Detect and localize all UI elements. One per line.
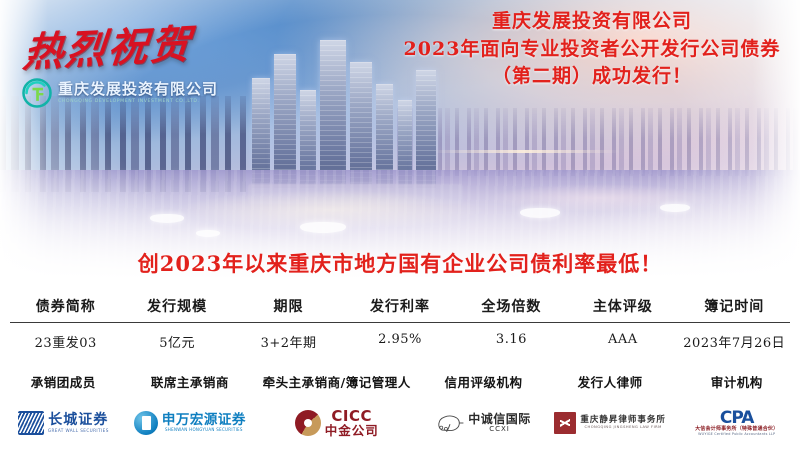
logo-cicc: CICC 中金公司 (253, 398, 420, 448)
bond-issuance-poster: 热烈祝贺 重庆发展投资有限公司 CHONGQING DEVELOPMENT IN… (0, 0, 800, 450)
logo-ccxi: 中诚信国际 CCXI (420, 398, 547, 448)
sub-headline: 创2023年以来重庆市地方国有企业公司债利率最低！ (0, 248, 800, 278)
logo-great-wall-securities: 长城证券 GREAT WALL SECURITIES (0, 398, 127, 448)
column-header-bond-name: 债券简称 (10, 296, 121, 322)
great-wall-securities-logo-icon (18, 411, 44, 435)
column-header-bookbuilding-date: 簿记时间 (679, 296, 790, 322)
boat (520, 208, 560, 218)
boat (660, 204, 690, 212)
cell-subscription-multiple: 3.16 (456, 323, 567, 351)
column-header-issue-size: 发行规模 (121, 296, 232, 322)
role-label-syndicate-member: 承销团成员 (0, 372, 127, 391)
cicc-logo-icon (295, 410, 321, 436)
column-header-tenor: 期限 (233, 296, 344, 322)
cell-issuer-rating: AAA (567, 323, 678, 351)
wuyige-cpa-logo-icon: CPA (720, 410, 754, 427)
table-header-row: 债券简称 发行规模 期限 发行利率 全场倍数 主体评级 簿记时间 (10, 296, 790, 322)
role-label-auditor: 审计机构 (673, 372, 800, 391)
role-label-joint-lead-underwriter: 联席主承销商 (127, 372, 254, 391)
issuer-logo: 重庆发展投资有限公司 CHONGQING DEVELOPMENT INVESTM… (22, 78, 218, 108)
chongqing-jingsheng-law-firm-logo-icon (554, 412, 576, 434)
column-header-coupon: 发行利率 (344, 296, 455, 322)
issuer-logo-name-en: CHONGQING DEVELOPMENT INVESTMENT CO.,LTD… (58, 100, 218, 105)
headline-line-3: （第二期）成功发行！ (392, 63, 792, 91)
great-wall-name-en: GREAT WALL SECURITIES (48, 429, 109, 433)
headline-line-1: 重庆发展投资有限公司 (392, 8, 792, 36)
cell-issue-size: 5亿元 (121, 323, 232, 351)
cell-bookbuilding-date: 2023年7月26日 (679, 323, 790, 351)
jingsheng-name-cn: 重庆静昇律师事务所 (580, 416, 666, 425)
issuer-logo-name-cn: 重庆发展投资有限公司 (58, 82, 218, 97)
cell-bond-name: 23重发03 (10, 323, 121, 351)
role-label-lead-underwriter-bookrunner: 牵头主承销商/簿记管理人 (253, 372, 420, 391)
shenwan-name-en: SHENWAN HONGYUAN SECURITIES (165, 428, 243, 432)
logo-shenwan-hongyuan-securities: 申万宏源证券 SHENWAN HONGYUAN SECURITIES (127, 398, 254, 448)
cell-tenor: 3+2年期 (233, 323, 344, 351)
wuyige-name-en: WUYIGE Certified Public Accountants LLP (698, 433, 775, 437)
table-row: 23重发03 5亿元 3+2年期 2.95% 3.16 AAA 2023年7月2… (10, 323, 790, 351)
role-labels: 承销团成员 联席主承销商 牵头主承销商/簿记管理人 信用评级机构 发行人律师 审… (0, 372, 800, 391)
shenwan-hongyuan-securities-logo-icon (134, 411, 158, 435)
great-wall-name-cn: 长城证券 (48, 413, 108, 428)
cicc-name-cn: 中金公司 (325, 424, 379, 437)
congratulation-calligraphy: 热烈祝贺 (21, 12, 195, 79)
institution-logo-strip: 长城证券 GREAT WALL SECURITIES 申万宏源证券 SHENWA… (0, 398, 800, 448)
headline-line-2: 2023年面向专业投资者公开发行公司债券 (392, 36, 792, 64)
ccxi-name-en: CCXI (489, 426, 510, 433)
shenwan-name-cn: 申万宏源证券 (162, 413, 246, 427)
cicc-name-en: CICC (331, 409, 372, 425)
logo-jingsheng-law-firm: 重庆静昇律师事务所 CHONGQING JINGSHENG LAW FIRM (547, 398, 674, 448)
chongqing-development-logo-icon (22, 78, 52, 108)
logo-wuyige-cpa: CPA 大信会计师事务所（特殊普通合伙） WUYIGE Certified Pu… (673, 398, 800, 448)
role-label-credit-rating-agency: 信用评级机构 (420, 372, 547, 391)
bond-summary-table: 债券简称 发行规模 期限 发行利率 全场倍数 主体评级 簿记时间 23重发03 … (10, 296, 790, 351)
boat (196, 230, 220, 237)
column-header-issuer-rating: 主体评级 (567, 296, 678, 322)
ccxi-elephant-logo-icon (436, 412, 464, 434)
ccxi-name-cn: 中诚信国际 (468, 413, 531, 426)
headline: 重庆发展投资有限公司 2023年面向专业投资者公开发行公司债券 （第二期）成功发… (392, 8, 792, 91)
jingsheng-name-en: CHONGQING JINGSHENG LAW FIRM (584, 426, 661, 430)
column-header-subscription-multiple: 全场倍数 (456, 296, 567, 322)
boat (150, 214, 184, 223)
boat (300, 222, 346, 233)
cell-coupon: 2.95% (344, 323, 455, 351)
role-label-issuer-counsel: 发行人律师 (547, 372, 674, 391)
